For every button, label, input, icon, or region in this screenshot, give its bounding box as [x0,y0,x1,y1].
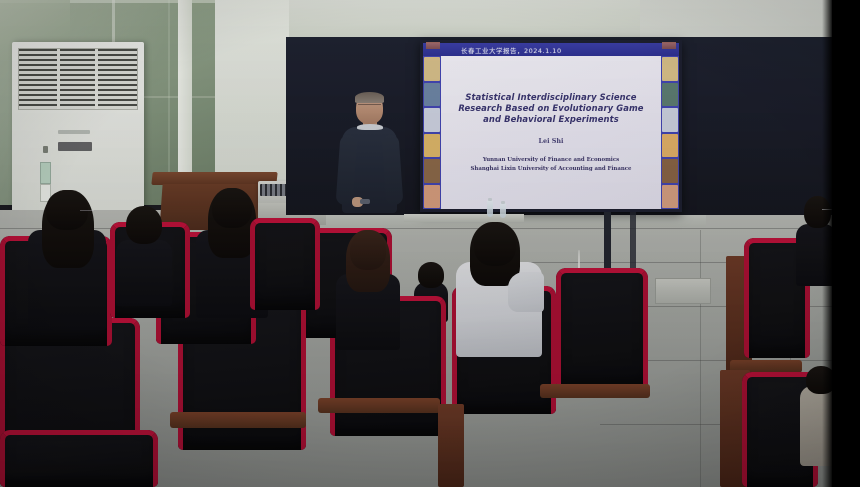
presenter-collar [357,124,383,130]
right-black-bar [832,0,860,487]
slide-title-line: and Behavioral Experiments [458,114,643,125]
thumbnail [424,83,440,107]
thumbnail [424,134,440,158]
seat-armrest [170,412,306,428]
audience-head [212,188,252,228]
bottle-cap [488,198,492,201]
thumbnail [662,57,678,81]
thumbnail [424,185,440,209]
thumbnail [662,108,678,132]
affiliation-line: Shanghai Lixin University of Accounting … [471,165,632,173]
glasses-icon [80,210,94,214]
thumbnail [662,159,678,183]
audience-member [336,230,400,350]
bottle-cap [501,201,505,204]
presentation-display[interactable]: 长春工业大学报告，2024.1.10 Statistical Interdisc… [420,40,682,212]
audience-torso [796,224,836,286]
display-corner-clip-left [426,42,440,49]
thumbnail [424,108,440,132]
affiliation-line: Yunnan University of Finance and Economi… [471,156,632,164]
floor-cabinet [655,278,711,304]
thumbnail [662,134,678,158]
slide-header-bar: 长春工业大学报告，2024.1.10 [423,43,679,56]
ac-knob [43,146,48,153]
ac-green-sticker [40,162,51,184]
seat[interactable] [556,268,648,388]
display-screen: 长春工业大学报告，2024.1.10 Statistical Interdisc… [423,43,679,209]
audience-head [418,262,444,288]
audience-head [474,224,516,266]
seat[interactable] [0,430,158,487]
thumbnail [662,83,678,107]
slide-title: Statistical Interdisciplinary Science Re… [458,92,643,125]
slide-content: Statistical Interdisciplinary Science Re… [441,56,661,209]
seat-side-panel [438,404,464,487]
audience-member [116,206,172,306]
desk-ledge [404,214,524,222]
slide-affiliations: Yunnan University of Finance and Economi… [471,156,632,173]
audience-head [350,232,386,270]
audience-member [28,190,106,330]
room-interior: 长春工业大学报告，2024.1.10 Statistical Interdisc… [0,0,860,487]
thumbnail [424,159,440,183]
presenter-hair [355,92,384,103]
slide-title-line: Statistical Interdisciplinary Science [458,92,643,103]
thumbnail [662,185,678,209]
audience-member [452,222,544,357]
display-corner-clip-right [662,42,676,49]
water-bottle [500,203,506,218]
slide-author: Lei Shi [539,137,564,145]
audience-shoulder [508,272,544,312]
audience-torso [116,240,172,306]
lecture-hall-photo: 长春工业大学报告，2024.1.10 Statistical Interdisc… [0,0,860,487]
seat-armrest [540,384,650,398]
audience-head [126,206,162,244]
presentation-clicker[interactable] [360,199,370,204]
presenter-arm-right [382,134,404,205]
ac-brand-badge [58,142,92,151]
thumbnail-strip-left [423,56,441,209]
slide-title-line: Research Based on Evolutionary Game [458,103,643,114]
thumbnail [424,57,440,81]
glasses-icon [358,104,381,108]
ac-label [58,130,90,134]
seat-armrest [318,398,440,413]
presenter [334,93,404,228]
water-bottle [487,200,493,217]
ac-vent-grille [18,48,138,110]
audience-member [796,196,836,286]
slide-header-text: 长春工业大学报告，2024.1.10 [461,45,562,55]
slide-body: Statistical Interdisciplinary Science Re… [423,56,679,209]
thumbnail-strip-right [661,56,679,209]
seat[interactable] [250,218,320,310]
